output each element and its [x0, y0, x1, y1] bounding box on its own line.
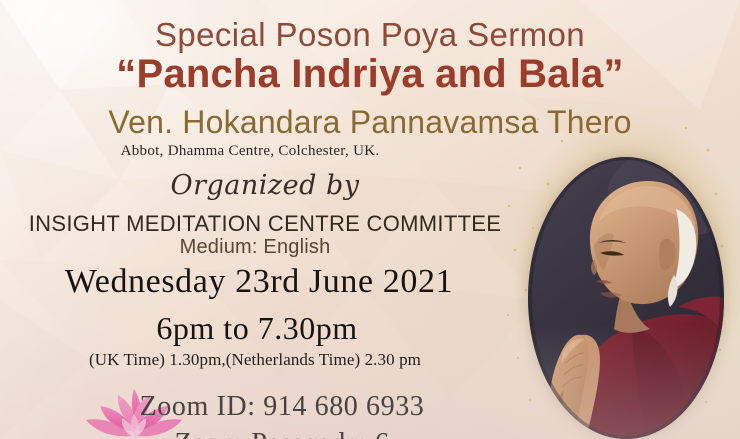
organized-by-label: Organized by	[0, 170, 530, 201]
poster-title-line-1: Special Poson Poya Sermon	[0, 16, 740, 54]
event-date: Wednesday 23rd June 2021	[0, 263, 518, 301]
zoom-meeting-id: Zoom ID: 914 680 6933	[0, 391, 564, 423]
poster-title-line-2: “Pancha Indriya and Bala”	[0, 52, 740, 97]
medium-language: Medium: English	[0, 236, 510, 259]
event-timezones: (UK Time) 1.30pm,(Netherlands Time) 2.30…	[0, 350, 510, 370]
organizer-name: INSIGHT MEDITATION CENTRE COMMITTEE	[0, 211, 530, 237]
speaker-name: Ven. Hokandara Pannavamsa Thero	[0, 104, 740, 141]
event-time: 6pm to 7.30pm	[0, 310, 514, 347]
poson-poya-sermon-poster: Special Poson Poya Sermon “Pancha Indriy…	[0, 0, 740, 439]
zoom-passcode: Zoom Passcode: 6	[0, 428, 564, 439]
speaker-role: Abbot, Dhamma Centre, Colchester, UK.	[0, 143, 500, 160]
